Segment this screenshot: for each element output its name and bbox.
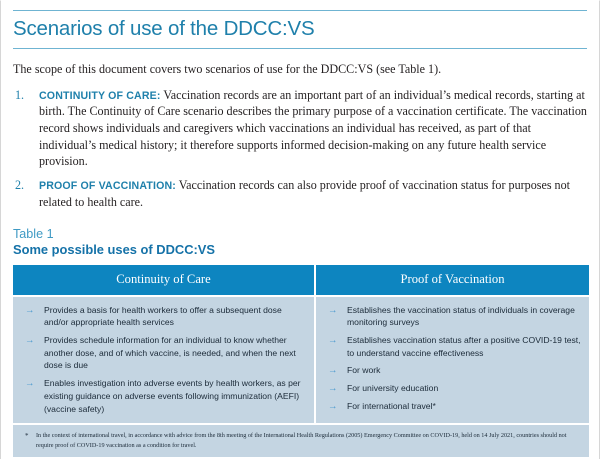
table-cell-proof-of-vaccination: → Establishes the vaccination status of …: [316, 297, 589, 424]
continuity-of-care-list: → Provides a basis for health workers to…: [21, 304, 306, 416]
table-body-row: → Provides a basis for health workers to…: [13, 297, 589, 424]
list-item: 1.CONTINUITY OF CARE: Vaccination record…: [13, 87, 587, 170]
list-item: → Provides a basis for health workers to…: [21, 304, 306, 329]
document-page: Scenarios of use of the DDCC:VS The scop…: [0, 0, 600, 459]
table-header-row: Continuity of Care Proof of Vaccination: [13, 265, 589, 294]
arrow-right-icon: →: [328, 334, 338, 348]
arrow-right-icon: →: [328, 364, 338, 378]
list-item-label: Provides schedule information for an ind…: [44, 335, 296, 370]
footnote-marker: *: [25, 431, 29, 442]
title-rule-bottom: [13, 48, 587, 49]
table-cell-continuity-of-care: → Provides a basis for health workers to…: [13, 297, 314, 424]
arrow-right-icon: →: [25, 377, 35, 391]
list-item: 2.PROOF OF VACCINATION: Vaccination reco…: [13, 177, 587, 210]
table-footnote-row: * In the context of international travel…: [13, 425, 589, 457]
list-item: → For university education: [324, 382, 581, 395]
list-item: → Establishes the vaccination status of …: [324, 304, 581, 329]
table-header-proof-of-vaccination: Proof of Vaccination: [316, 265, 589, 294]
list-item-label: Establishes vaccination status after a p…: [347, 335, 581, 358]
table-footnote: * In the context of international travel…: [23, 431, 579, 450]
list-item-lead: CONTINUITY OF CARE: [39, 90, 157, 102]
list-item: → For international travel*: [324, 400, 581, 413]
table-caption-title: Some possible uses of DDCC:VS: [13, 242, 587, 258]
arrow-right-icon: →: [25, 334, 35, 348]
table-header-continuity-of-care: Continuity of Care: [13, 265, 314, 294]
page-title: Scenarios of use of the DDCC:VS: [13, 11, 587, 48]
list-item: → Enables investigation into adverse eve…: [21, 377, 306, 415]
scenario-list: 1.CONTINUITY OF CARE: Vaccination record…: [13, 87, 587, 211]
proof-of-vaccination-list: → Establishes the vaccination status of …: [324, 304, 581, 413]
list-item: → Provides schedule information for an i…: [21, 334, 306, 372]
footnote-text: In the context of international travel, …: [36, 432, 567, 449]
list-item-number: 2.: [15, 177, 24, 194]
uses-table: Continuity of Care Proof of Vaccination …: [13, 265, 589, 457]
list-item-lead: PROOF OF VACCINATION: [39, 180, 172, 192]
intro-paragraph: The scope of this document covers two sc…: [13, 61, 587, 78]
page-content: Scenarios of use of the DDCC:VS The scop…: [1, 10, 599, 457]
table-caption-label: Table 1: [13, 227, 587, 243]
arrow-right-icon: →: [328, 400, 338, 414]
arrow-right-icon: →: [328, 304, 338, 318]
list-item-label: For work: [347, 365, 380, 375]
list-item-label: For university education: [347, 383, 438, 393]
list-item-label: Enables investigation into adverse event…: [44, 378, 301, 413]
list-item-label: Establishes the vaccination status of in…: [347, 305, 575, 328]
table-caption: Table 1 Some possible uses of DDCC:VS: [13, 227, 587, 259]
list-item-number: 1.: [15, 87, 24, 104]
list-item-label: Provides a basis for health workers to o…: [44, 305, 282, 328]
list-item: → Establishes vaccination status after a…: [324, 334, 581, 359]
arrow-right-icon: →: [25, 304, 35, 318]
arrow-right-icon: →: [328, 382, 338, 396]
list-item: → For work: [324, 364, 581, 377]
list-item-label: For international travel*: [347, 401, 436, 411]
